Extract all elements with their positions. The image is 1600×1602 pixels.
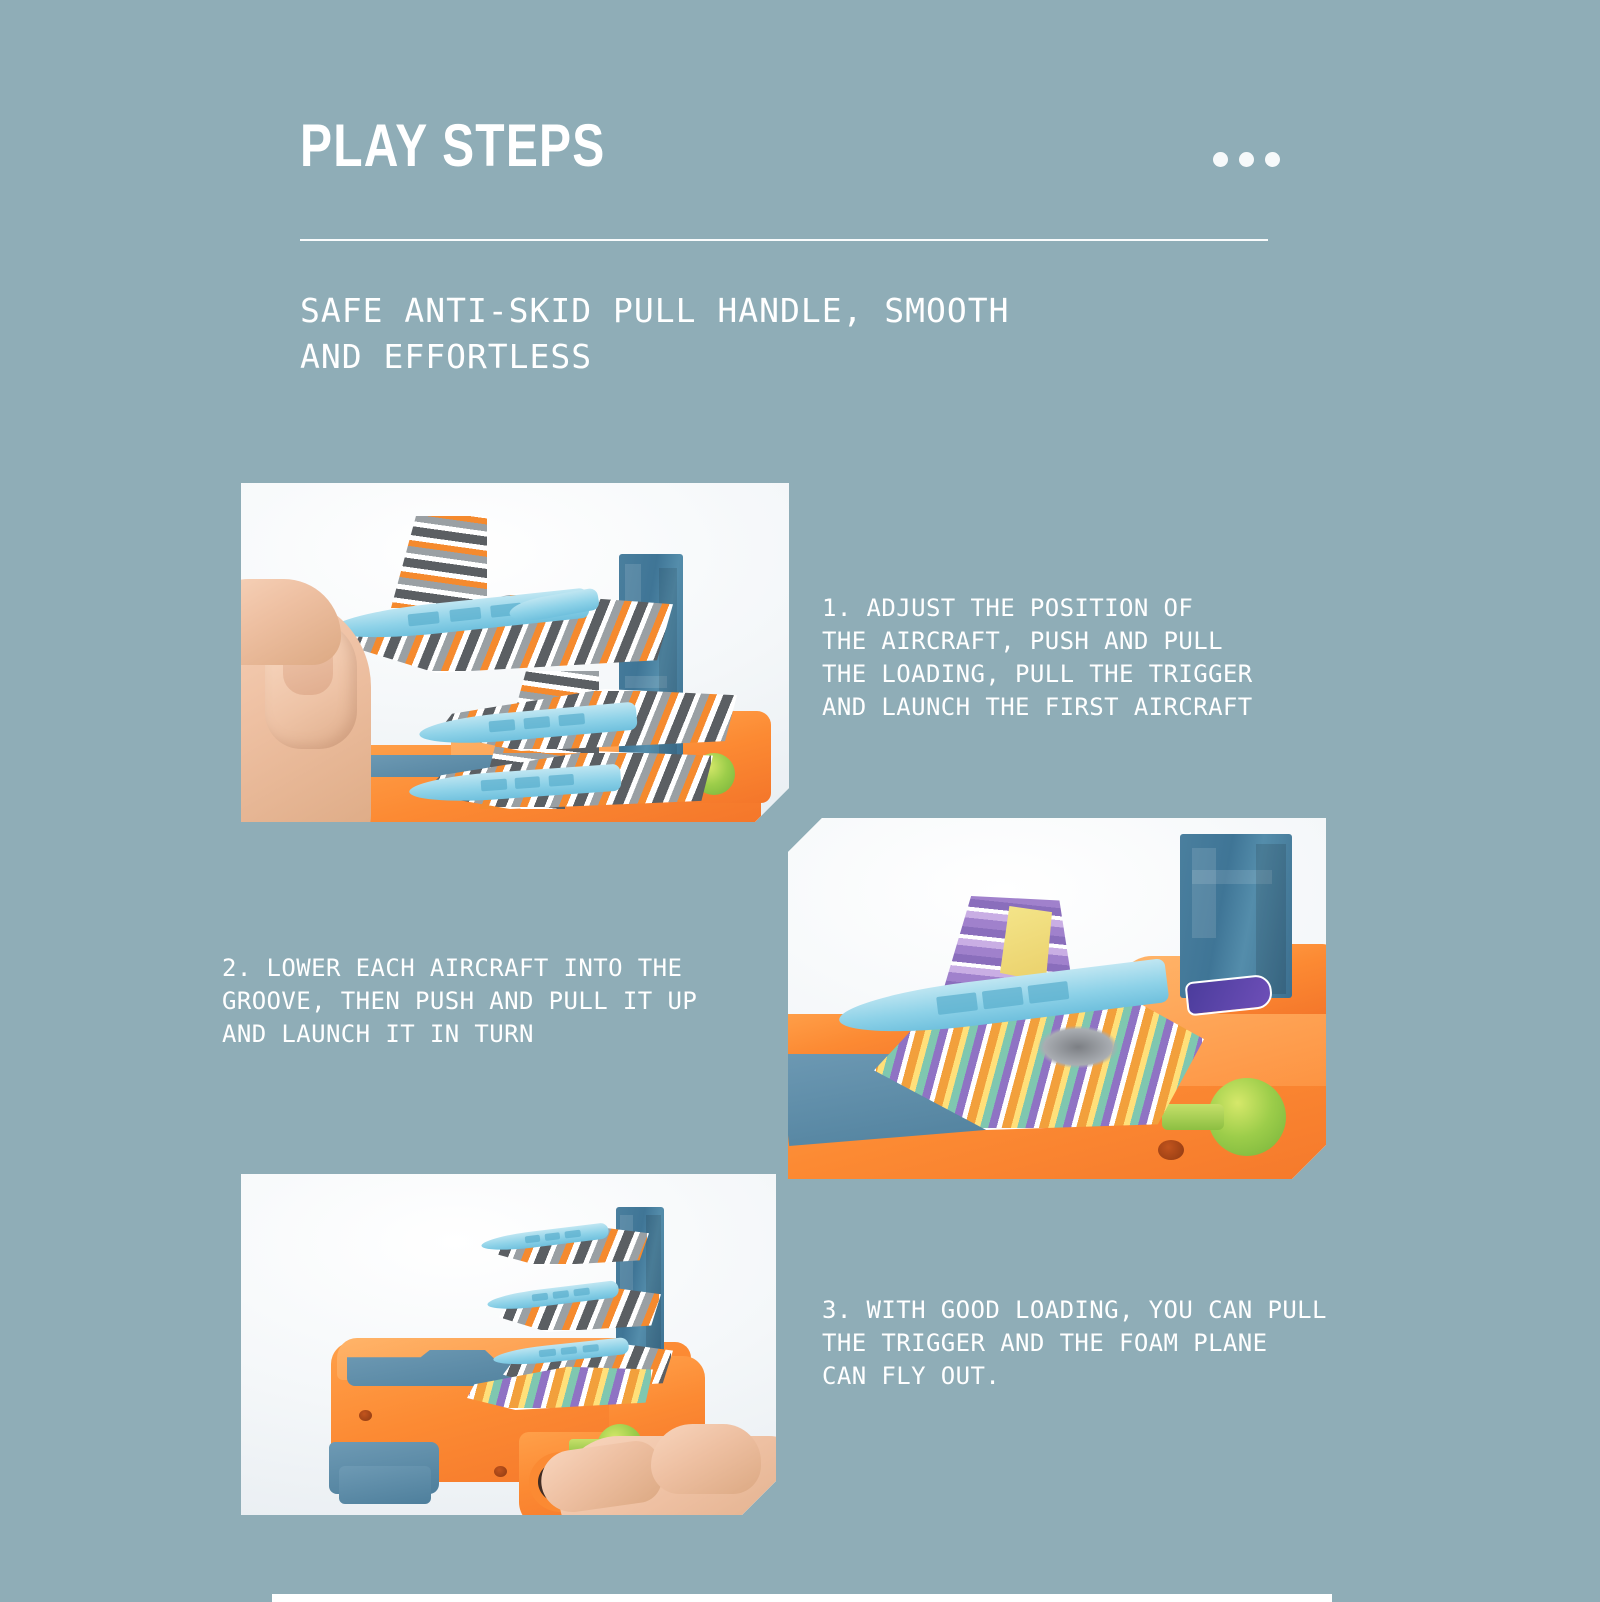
photo-scene bbox=[241, 1174, 776, 1515]
launcher-green-knob bbox=[1208, 1078, 1286, 1156]
header-subtitle: SAFE ANTI-SKID PULL HANDLE, SMOOTH AND E… bbox=[300, 288, 1200, 380]
launcher-barrel-tip bbox=[339, 1466, 431, 1504]
dot-1 bbox=[1213, 152, 1228, 167]
step-3-text: 3. WITH GOOD LOADING, YOU CAN PULL THE T… bbox=[822, 1294, 1402, 1393]
tailfin-logo-patch bbox=[1000, 906, 1052, 982]
dot-3 bbox=[1265, 152, 1280, 167]
page-title: PLAY STEPS bbox=[300, 116, 605, 176]
bottom-section-divider bbox=[272, 1594, 1332, 1602]
index-finger bbox=[241, 579, 341, 665]
wing-decal-eagle bbox=[1038, 1026, 1118, 1068]
step-2-photo bbox=[788, 818, 1326, 1179]
glider-1-tailfin bbox=[391, 516, 487, 608]
step-1-text: 1. ADJUST THE POSITION OF THE AIRCRAFT, … bbox=[822, 592, 1362, 724]
step-3-photo bbox=[241, 1174, 776, 1515]
photo-scene bbox=[788, 818, 1326, 1179]
screw-hole-2 bbox=[494, 1466, 507, 1477]
header-divider bbox=[300, 239, 1268, 241]
screw-hole-1 bbox=[359, 1410, 372, 1421]
dot-2 bbox=[1239, 152, 1254, 167]
step-2-text: 2. LOWER EACH AIRCRAFT INTO THE GROOVE, … bbox=[222, 952, 767, 1051]
step-1-photo bbox=[241, 483, 789, 822]
magazine-tower bbox=[1180, 834, 1292, 998]
page-root: PLAY STEPS SAFE ANTI-SKID PULL HANDLE, S… bbox=[0, 0, 1600, 1600]
launcher-screw-hole bbox=[1158, 1140, 1184, 1160]
photo-scene bbox=[241, 483, 789, 822]
three-dots-icon bbox=[1213, 152, 1280, 167]
thumb bbox=[651, 1424, 761, 1494]
